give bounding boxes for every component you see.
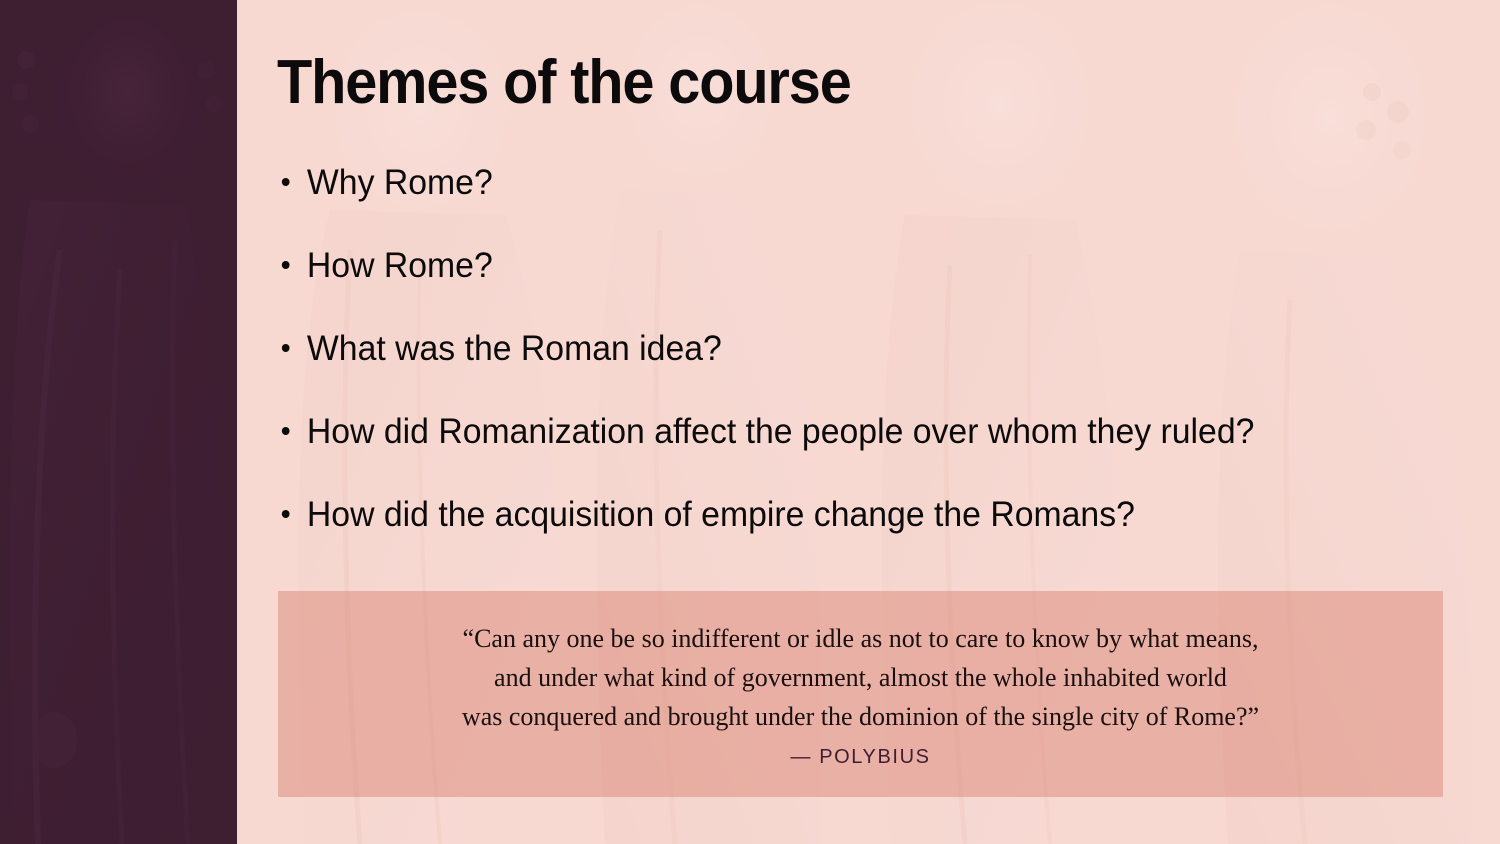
list-item: How Rome?: [277, 245, 1435, 328]
slide-content: Themes of the course Why Rome? How Rome?…: [237, 0, 1500, 844]
list-item-label: How did the acquisition of empire change…: [307, 495, 1135, 534]
list-item: How did Romanization affect the people o…: [277, 411, 1435, 494]
bullet-dot-icon: [282, 178, 290, 186]
quotation-line: was conquered and brought under the domi…: [278, 697, 1443, 736]
sidebar-accent-panel: [0, 0, 237, 844]
list-item-label: How Rome?: [307, 246, 493, 285]
list-item-label: Why Rome?: [307, 163, 493, 202]
list-item: What was the Roman idea?: [277, 328, 1435, 411]
quotation-line: “Can any one be so indifferent or idle a…: [278, 619, 1443, 658]
quotation-attribution: — POLYBIUS: [278, 746, 1443, 769]
list-item-label: What was the Roman idea?: [307, 329, 722, 368]
list-item: Why Rome?: [277, 162, 1435, 245]
page-title: Themes of the course: [277, 50, 851, 115]
bullet-dot-icon: [282, 510, 290, 518]
quotation-panel: “Can any one be so indifferent or idle a…: [278, 591, 1443, 797]
quotation-line: and under what kind of government, almos…: [278, 658, 1443, 697]
bullet-dot-icon: [282, 427, 290, 435]
sidebar-relief-image: [0, 0, 237, 844]
presentation-slide: Themes of the course Why Rome? How Rome?…: [0, 0, 1500, 844]
list-item-label: How did Romanization affect the people o…: [307, 412, 1255, 451]
quotation-text: “Can any one be so indifferent or idle a…: [278, 619, 1443, 736]
list-item: How did the acquisition of empire change…: [277, 494, 1435, 577]
bullet-dot-icon: [282, 344, 290, 352]
themes-bullet-list: Why Rome? How Rome? What was the Roman i…: [277, 162, 1477, 577]
bullet-dot-icon: [282, 261, 290, 269]
